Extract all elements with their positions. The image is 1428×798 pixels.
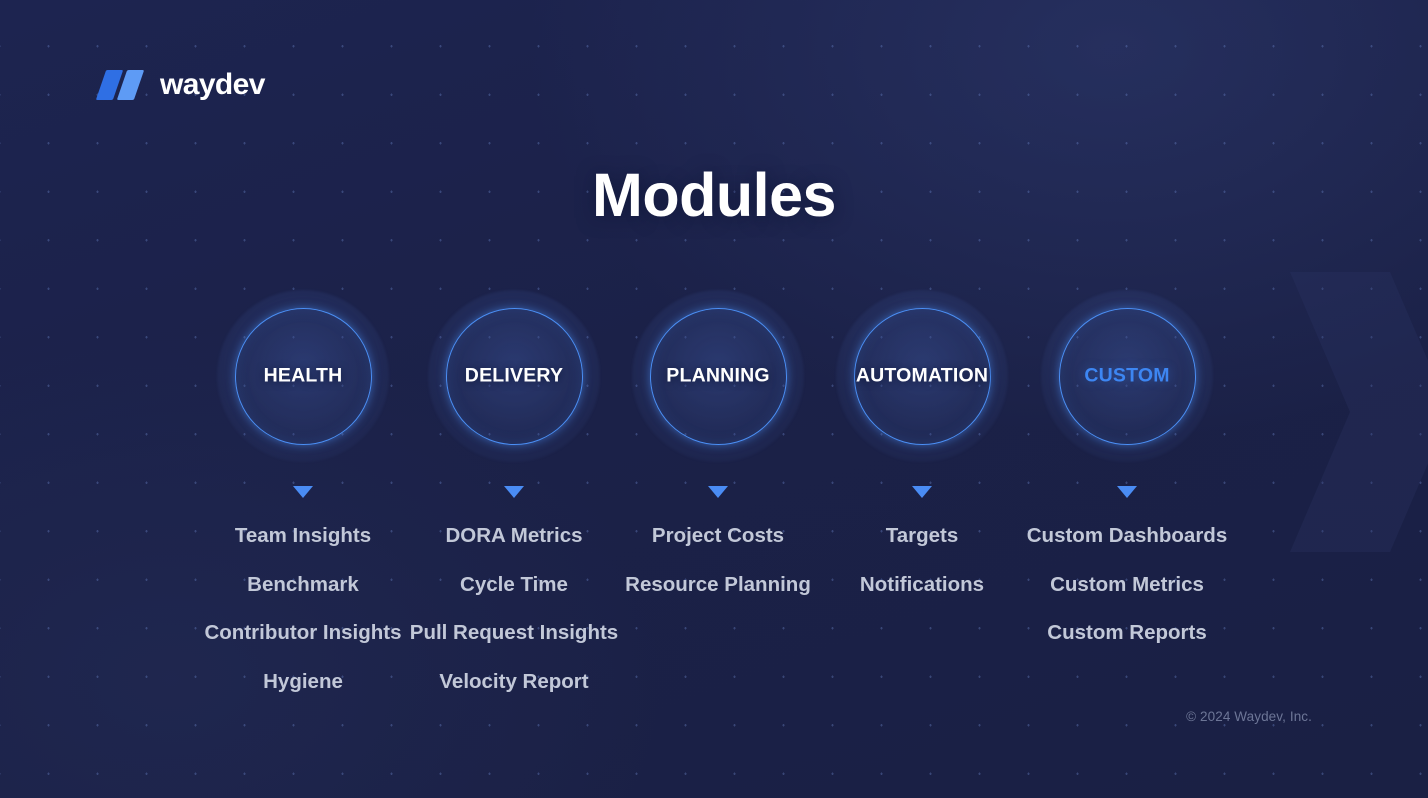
- list-item[interactable]: Custom Reports: [997, 623, 1257, 644]
- module-label-automation: AUTOMATION: [836, 365, 1008, 388]
- chevron-right-decoration-icon: [1260, 262, 1428, 562]
- list-item[interactable]: Custom Dashboards: [997, 526, 1257, 547]
- feature-list-custom: Custom DashboardsCustom MetricsCustom Re…: [997, 526, 1257, 644]
- triangle-down-icon: [1117, 486, 1137, 498]
- triangle-down-icon: [912, 486, 932, 498]
- list-item[interactable]: Pull Request Insights: [384, 623, 644, 644]
- list-item[interactable]: Velocity Report: [384, 672, 644, 693]
- module-circle-planning[interactable]: PLANNING: [632, 290, 804, 462]
- slide-canvas: waydev Modules HEALTHTeam InsightsBenchm…: [0, 0, 1428, 798]
- list-item[interactable]: Custom Metrics: [997, 575, 1257, 596]
- triangle-down-icon: [708, 486, 728, 498]
- module-circle-health[interactable]: HEALTH: [217, 290, 389, 462]
- waydev-logo-text: waydev: [160, 70, 265, 100]
- module-label-custom: CUSTOM: [1041, 365, 1213, 388]
- module-label-delivery: DELIVERY: [428, 365, 600, 388]
- footer-copyright: © 2024 Waydev, Inc.: [1186, 709, 1312, 724]
- waydev-logo-mark-icon: [100, 70, 147, 100]
- page-title: Modules: [0, 160, 1428, 230]
- module-circle-automation[interactable]: AUTOMATION: [836, 290, 1008, 462]
- module-circle-delivery[interactable]: DELIVERY: [428, 290, 600, 462]
- triangle-down-icon: [504, 486, 524, 498]
- triangle-down-icon: [293, 486, 313, 498]
- module-label-health: HEALTH: [217, 365, 389, 388]
- waydev-logo[interactable]: waydev: [100, 67, 265, 103]
- module-circle-custom[interactable]: CUSTOM: [1041, 290, 1213, 462]
- module-column-custom[interactable]: CUSTOMCustom DashboardsCustom MetricsCus…: [997, 290, 1257, 672]
- module-label-planning: PLANNING: [632, 365, 804, 388]
